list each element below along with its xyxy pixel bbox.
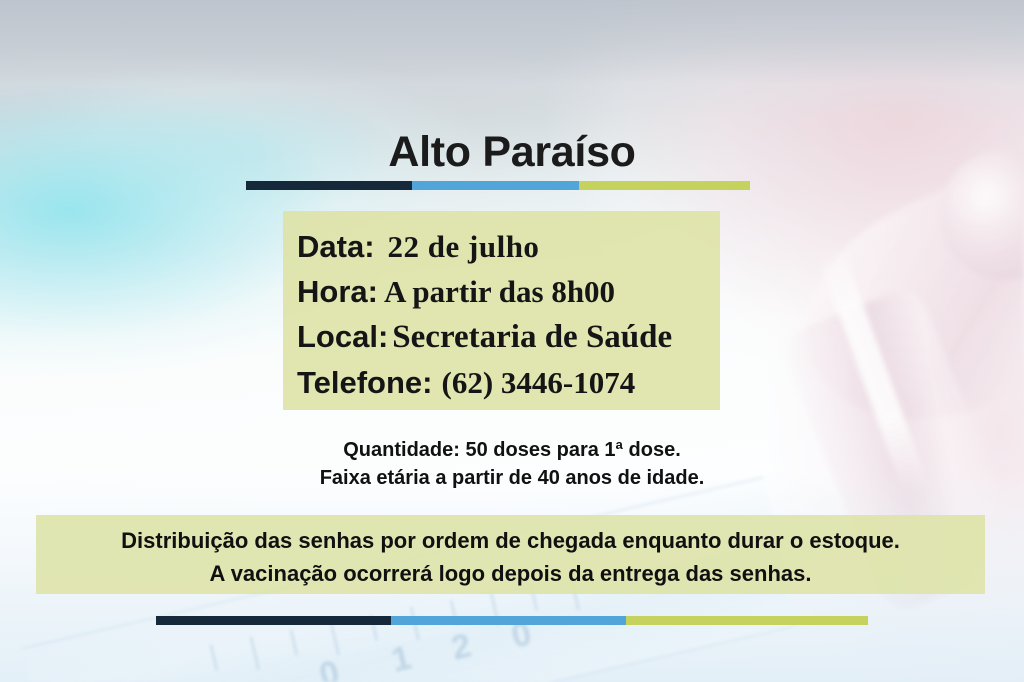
banner-text: Distribuição das senhas por ordem de che… bbox=[36, 524, 985, 590]
divider-segment-blue bbox=[391, 616, 626, 625]
info-label-time: Hora: bbox=[297, 274, 378, 309]
info-label-phone: Telefone: bbox=[297, 365, 433, 400]
info-row-location: Local:Secretaria de Saúde bbox=[297, 314, 737, 360]
banner-line-1: Distribuição das senhas por ordem de che… bbox=[36, 524, 985, 557]
info-value-location: Secretaria de Saúde bbox=[392, 319, 672, 355]
divider-segment-dark bbox=[246, 181, 412, 190]
divider-top bbox=[246, 181, 750, 190]
divider-segment-green bbox=[626, 616, 868, 625]
dose-note: Quantidade: 50 doses para 1ª dose. Faixa… bbox=[0, 436, 1024, 492]
dose-note-line-1: Quantidade: 50 doses para 1ª dose. bbox=[0, 436, 1024, 464]
banner-line-2: A vacinação ocorrerá logo depois da entr… bbox=[36, 557, 985, 590]
poster-title: Alto Paraíso bbox=[0, 126, 1024, 178]
info-label-location: Local: bbox=[297, 319, 388, 354]
poster-content: Alto Paraíso Data:22 de julho Hora:A par… bbox=[0, 0, 1024, 682]
info-value-time: A partir das 8h00 bbox=[384, 274, 615, 309]
info-row-date: Data:22 de julho bbox=[297, 224, 737, 269]
info-label-date: Data: bbox=[297, 229, 375, 264]
divider-segment-green bbox=[579, 181, 750, 190]
dose-note-line-2: Faixa etária a partir de 40 anos de idad… bbox=[0, 464, 1024, 492]
info-row-phone: Telefone:(62) 3446-1074 bbox=[297, 360, 737, 405]
divider-segment-dark bbox=[156, 616, 391, 625]
divider-segment-blue bbox=[412, 181, 578, 190]
info-value-date: 22 de julho bbox=[388, 229, 540, 264]
vaccination-poster: 0 1 2 0 Alto Paraíso Data:22 de julho Ho… bbox=[0, 0, 1024, 682]
info-row-time: Hora:A partir das 8h00 bbox=[297, 269, 737, 314]
info-list: Data:22 de julho Hora:A partir das 8h00 … bbox=[297, 224, 737, 405]
info-value-phone: (62) 3446-1074 bbox=[442, 365, 636, 400]
divider-bottom bbox=[156, 616, 868, 625]
